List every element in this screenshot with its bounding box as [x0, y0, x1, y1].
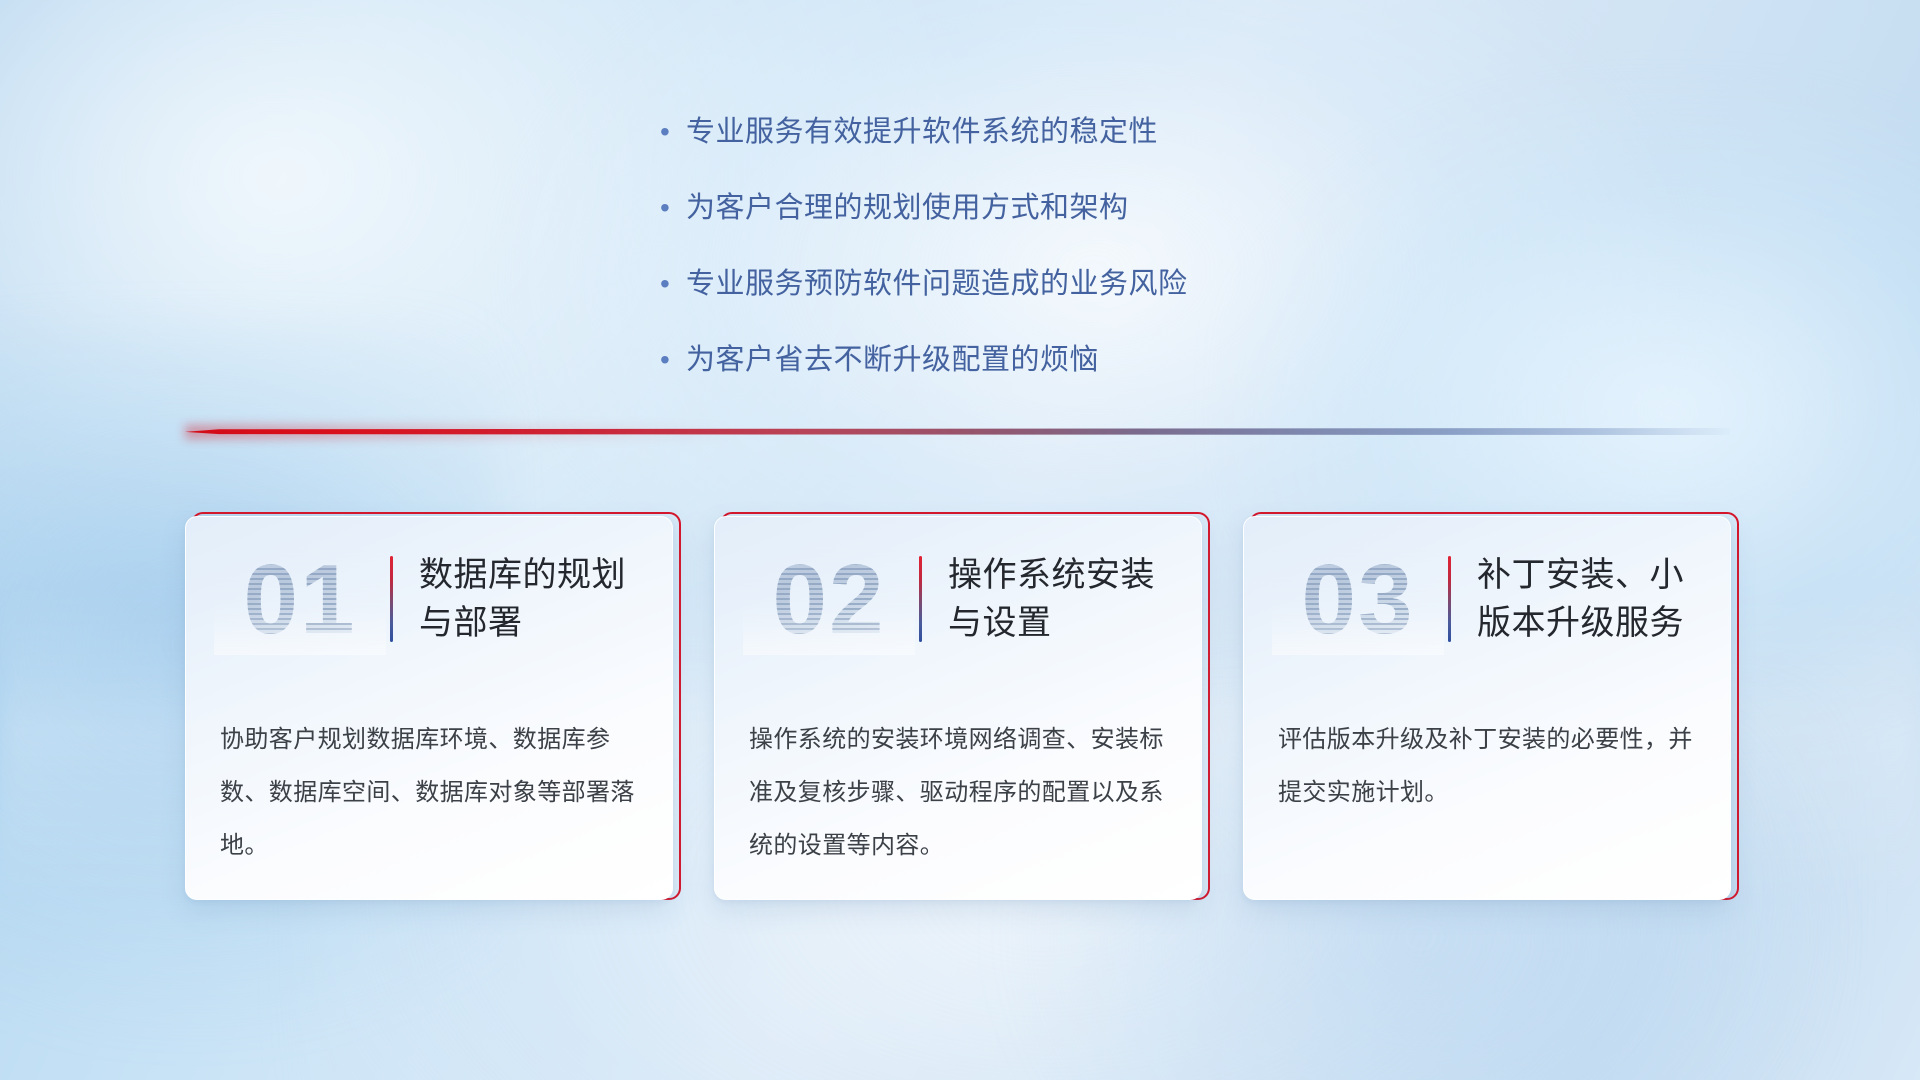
card-description: 操作系统的安装环境网络调查、安装标准及复核步骤、驱动程序的配置以及系统的设置等内…: [749, 713, 1173, 872]
card-header: 03 补丁安装、小版本升级服务: [1244, 539, 1730, 659]
bullet-label: 为客户省去不断升级配置的烦恼: [686, 338, 1099, 382]
card-surface: 01 数据库的规划与部署 协助客户规划数据库环境、数据库参数、数据库空间、数据库…: [185, 516, 673, 900]
card-header: 01 数据库的规划与部署: [186, 539, 672, 659]
card-title: 补丁安装、小版本升级服务: [1477, 551, 1730, 647]
bullet-point-icon: •: [660, 110, 686, 154]
service-card[interactable]: 02 操作系统安装与设置 操作系统的安装环境网络调查、安装标准及复核步骤、驱动程…: [714, 516, 1206, 904]
benefits-bullet-list: • 专业服务有效提升软件系统的稳定性 • 为客户合理的规划使用方式和架构 • 专…: [660, 110, 1420, 414]
list-item: • 为客户省去不断升级配置的烦恼: [660, 338, 1420, 382]
list-item: • 为客户合理的规划使用方式和架构: [660, 186, 1420, 230]
card-surface: 02 操作系统安装与设置 操作系统的安装环境网络调查、安装标准及复核步骤、驱动程…: [714, 516, 1202, 900]
accent-divider: [185, 425, 1730, 439]
service-card[interactable]: 03 补丁安装、小版本升级服务 评估版本升级及补丁安装的必要性，并提交实施计划。: [1243, 516, 1735, 904]
card-title-rule: [390, 556, 393, 642]
bullet-point-icon: •: [660, 262, 686, 306]
card-step-number: 03: [1272, 543, 1444, 655]
card-header: 02 操作系统安装与设置: [715, 539, 1201, 659]
card-description: 评估版本升级及补丁安装的必要性，并提交实施计划。: [1278, 713, 1702, 819]
bullet-point-icon: •: [660, 338, 686, 382]
card-title: 数据库的规划与部署: [419, 551, 672, 647]
bullet-label: 专业服务预防软件问题造成的业务风险: [686, 262, 1188, 306]
list-item: • 专业服务有效提升软件系统的稳定性: [660, 110, 1420, 154]
card-step-number: 02: [743, 543, 915, 655]
bullet-point-icon: •: [660, 186, 686, 230]
card-step-number: 01: [214, 543, 386, 655]
bullet-label: 专业服务有效提升软件系统的稳定性: [686, 110, 1158, 154]
card-surface: 03 补丁安装、小版本升级服务 评估版本升级及补丁安装的必要性，并提交实施计划。: [1243, 516, 1731, 900]
slide-canvas: • 专业服务有效提升软件系统的稳定性 • 为客户合理的规划使用方式和架构 • 专…: [0, 0, 1920, 1080]
card-title: 操作系统安装与设置: [948, 551, 1201, 647]
card-title-rule: [919, 556, 922, 642]
bullet-label: 为客户合理的规划使用方式和架构: [686, 186, 1129, 230]
service-card-group: 01 数据库的规划与部署 协助客户规划数据库环境、数据库参数、数据库空间、数据库…: [185, 516, 1735, 916]
list-item: • 专业服务预防软件问题造成的业务风险: [660, 262, 1420, 306]
card-title-rule: [1448, 556, 1451, 642]
service-card[interactable]: 01 数据库的规划与部署 协助客户规划数据库环境、数据库参数、数据库空间、数据库…: [185, 516, 677, 904]
card-description: 协助客户规划数据库环境、数据库参数、数据库空间、数据库对象等部署落地。: [220, 713, 644, 872]
